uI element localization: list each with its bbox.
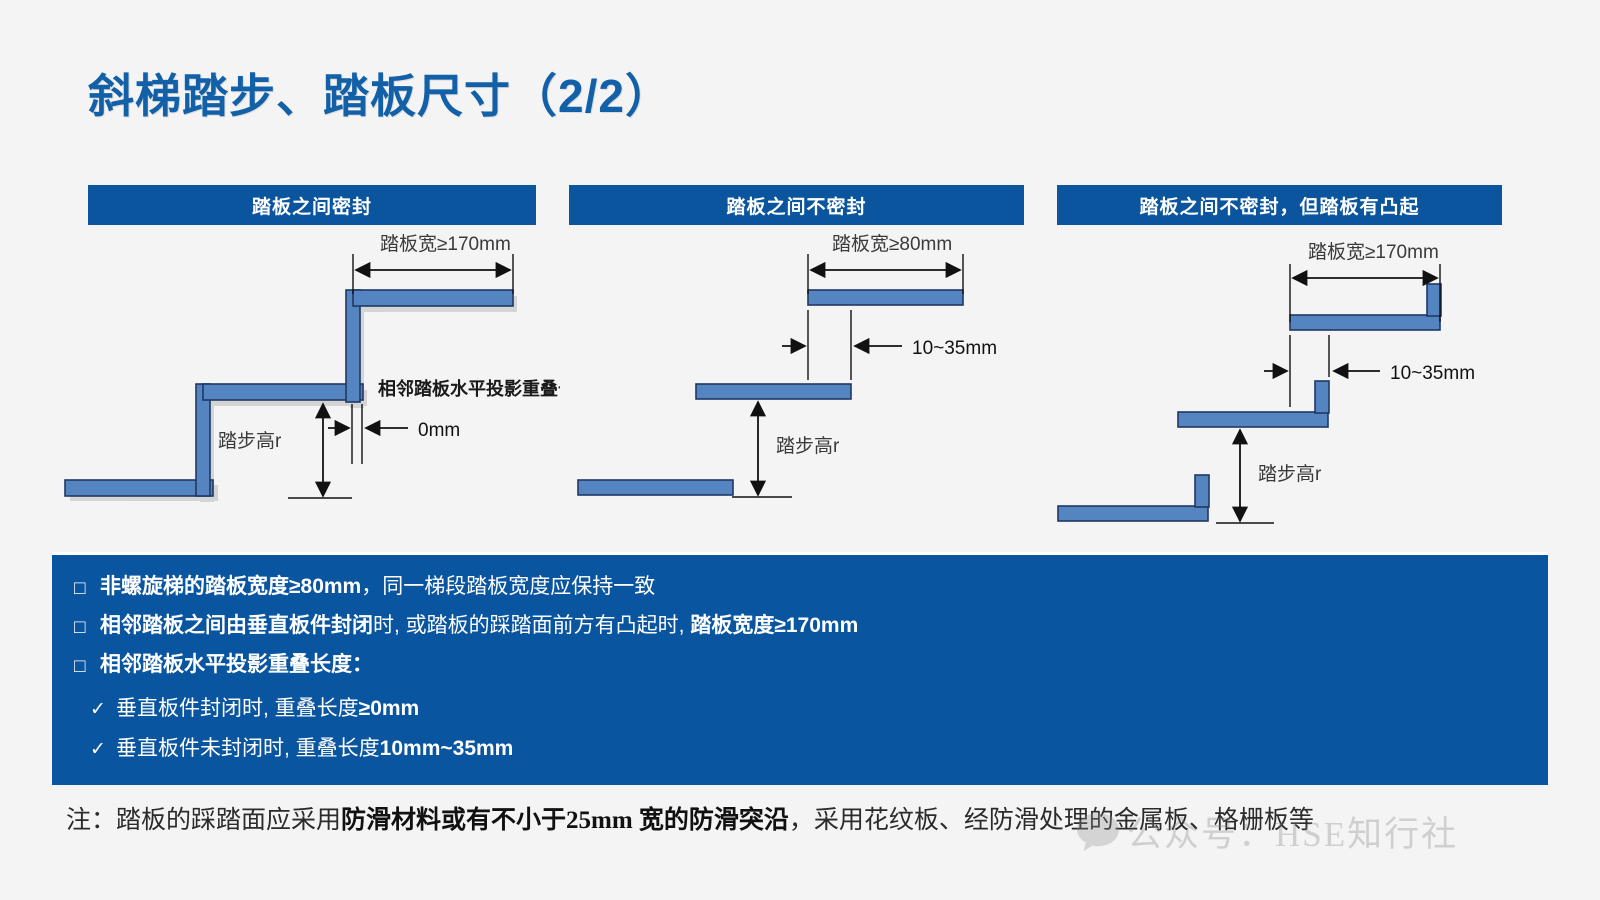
tread-plate-middle bbox=[203, 384, 363, 400]
square-bullet-icon: □ bbox=[74, 657, 100, 676]
label-step-height: 踏步高r bbox=[1258, 463, 1322, 485]
slide-canvas: 斜梯踏步、踏板尺寸（2/2） 踏板之间密封 踏板之间不密封 踏板之间不密封，但踏… bbox=[0, 0, 1600, 900]
check-bullet-icon: ✓ bbox=[90, 700, 116, 719]
label-overlap-value: 0mm bbox=[418, 420, 460, 441]
footnote-tail: ，采用花纹板、经防滑处理的金属板、格栅板等 bbox=[789, 807, 1314, 834]
bullet-item-5: ✓ 垂直板件未封闭时, 重叠长度10mm~35mm bbox=[68, 737, 1586, 762]
tread-plate-middle bbox=[1178, 412, 1328, 427]
tread-plate-top bbox=[808, 290, 963, 305]
check-bullet-icon: ✓ bbox=[90, 740, 116, 759]
label-overlap-title: 相邻踏板水平投影重叠长度 bbox=[378, 378, 560, 399]
bullet-text-1: 非螺旋梯的踏板宽度≥80mm，同一梯段踏板宽度应保持一致 bbox=[100, 575, 655, 600]
label-overlap-value: 10~35mm bbox=[912, 338, 997, 359]
bullet-item-2: □ 相邻踏板之间由垂直板件封闭时, 或踏板的踩踏面前方有凸起时, 踏板宽度≥17… bbox=[52, 614, 1570, 639]
nosing-plate-bottom bbox=[1195, 475, 1209, 507]
tread-plate-top bbox=[353, 290, 513, 306]
label-overlap-value: 10~35mm bbox=[1390, 363, 1475, 384]
bullet-text-3: 相邻踏板水平投影重叠长度： bbox=[100, 653, 373, 678]
diagram-unsealed: 踏板宽≥80mm 10~35mm 踏步高r bbox=[560, 232, 1050, 537]
diagram-sealed: 踏板宽≥170mm 踏步高r 相邻踏板水平投影重叠长度 0mm bbox=[60, 232, 560, 537]
tread-plate-bottom bbox=[1058, 506, 1208, 521]
label-step-height: 踏步高r bbox=[218, 430, 282, 452]
square-bullet-icon: □ bbox=[74, 618, 100, 637]
nosing-plate-top bbox=[1427, 284, 1441, 316]
page-title: 斜梯踏步、踏板尺寸（2/2） bbox=[88, 60, 672, 126]
bullet-text-5: 垂直板件未封闭时, 重叠长度10mm~35mm bbox=[116, 737, 513, 762]
bullet-item-3: □ 相邻踏板水平投影重叠长度： bbox=[52, 653, 1570, 678]
panel-header-sealed: 踏板之间密封 bbox=[88, 185, 536, 225]
label-tread-width: 踏板宽≥80mm bbox=[832, 233, 952, 255]
nosing-plate-middle bbox=[1315, 381, 1329, 413]
tread-plate-bottom bbox=[578, 480, 733, 495]
bullet-text-2: 相邻踏板之间由垂直板件封闭时, 或踏板的踩踏面前方有凸起时, 踏板宽度≥170m… bbox=[100, 614, 858, 639]
requirements-box: □ 非螺旋梯的踏板宽度≥80mm，同一梯段踏板宽度应保持一致 □ 相邻踏板之间由… bbox=[52, 552, 1548, 785]
tread-plate-top bbox=[1290, 315, 1440, 330]
square-bullet-icon: □ bbox=[74, 579, 100, 598]
bullet-text-4: 垂直板件封闭时, 重叠长度≥0mm bbox=[116, 697, 419, 722]
bullet-item-1: □ 非螺旋梯的踏板宽度≥80mm，同一梯段踏板宽度应保持一致 bbox=[52, 575, 1570, 600]
panel-header-unsealed-nosing: 踏板之间不密封，但踏板有凸起 bbox=[1057, 185, 1502, 225]
label-tread-width: 踏板宽≥170mm bbox=[380, 233, 511, 255]
label-tread-width: 踏板宽≥170mm bbox=[1308, 241, 1439, 263]
footnote-lead: 注：踏板的踩踏面应采用 bbox=[66, 807, 341, 834]
footnote: 注：踏板的踩踏面应采用防滑材料或有不小于25mm 宽的防滑突沿，采用花纹板、经防… bbox=[66, 800, 1314, 836]
tread-plate-bottom bbox=[65, 480, 213, 496]
diagram-unsealed-nosing: 踏板宽≥170mm 10~35mm 踏步高r bbox=[1050, 232, 1550, 537]
label-step-height: 踏步高r bbox=[776, 435, 840, 457]
footnote-emphasis: 防滑材料或有不小于25mm 宽的防滑突沿 bbox=[341, 807, 789, 834]
tread-plate-middle bbox=[696, 384, 851, 399]
bullet-item-4: ✓ 垂直板件封闭时, 重叠长度≥0mm bbox=[68, 697, 1586, 722]
panel-header-unsealed: 踏板之间不密封 bbox=[569, 185, 1024, 225]
